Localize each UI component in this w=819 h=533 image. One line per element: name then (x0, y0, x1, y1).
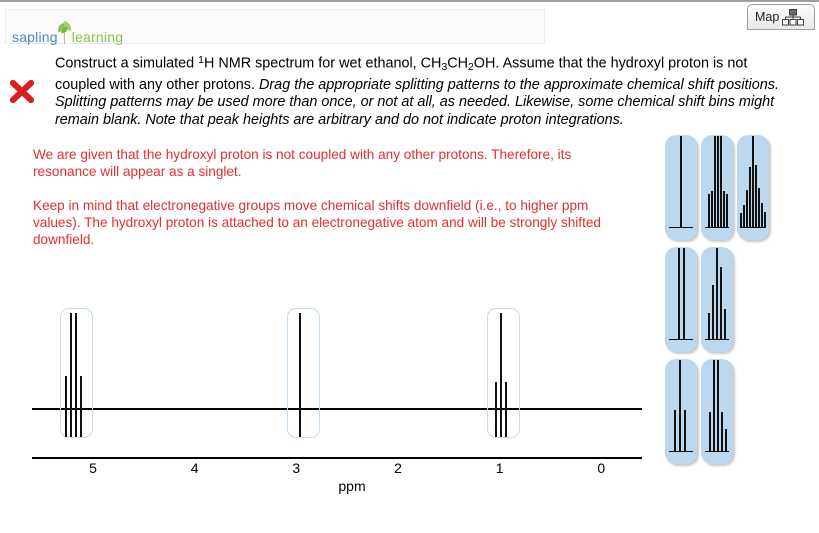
pattern-tile-triplet[interactable] (665, 359, 697, 464)
pattern-tile-multiplet-a[interactable] (701, 135, 733, 240)
sprout-icon (58, 22, 72, 44)
ppm-tick-4: 4 (191, 460, 199, 476)
peak-line (708, 313, 710, 340)
peak-line (75, 313, 77, 437)
pattern-baseline (669, 339, 693, 340)
pattern-preview-quartet (701, 359, 733, 464)
peak-line (80, 376, 82, 437)
peak-line (500, 313, 502, 437)
peak-line (299, 313, 301, 437)
peak-line (749, 167, 751, 228)
sapling-learning-logo: sapling learning (12, 22, 123, 44)
pattern-preview-multiplet (701, 247, 733, 352)
peak-line (724, 309, 726, 341)
nmr-spectrum: 543210 ppm (0, 272, 660, 502)
pattern-baseline (741, 227, 765, 228)
pattern-preview-singlet (665, 135, 697, 240)
peak-line (723, 191, 725, 228)
peak-line (70, 313, 72, 437)
peak-line (717, 136, 719, 228)
peak-line (714, 136, 716, 228)
peak-line (680, 136, 682, 228)
bin-3-ppm[interactable] (287, 308, 320, 438)
peak-line (678, 248, 680, 340)
hierarchy-tree-icon (782, 9, 804, 26)
pattern-tile-quartet[interactable] (701, 359, 733, 464)
peak-line (720, 267, 722, 341)
ppm-tick-1: 1 (496, 460, 504, 476)
peak-line (720, 136, 722, 228)
logo-word-learning: learning (72, 30, 123, 44)
pattern-tile-singlet[interactable] (665, 135, 697, 240)
peak-line (674, 410, 676, 452)
peak-line (761, 203, 763, 228)
bin-4-8-ppm[interactable] (60, 308, 93, 438)
ppm-tick-3: 3 (292, 460, 300, 476)
peak-line (709, 412, 711, 452)
peak-line (721, 412, 723, 452)
placed-pattern-quartet[interactable] (61, 309, 92, 437)
peak-line (683, 248, 685, 340)
pattern-baseline (705, 339, 729, 340)
pattern-tile-doublet[interactable] (665, 247, 697, 352)
logo-word-sapling: sapling (12, 30, 58, 44)
pattern-preview-multiplet (737, 135, 769, 240)
ppm-tick-0: 0 (597, 460, 605, 476)
peak-line (711, 191, 713, 228)
peak-line (684, 410, 686, 452)
question-prompt: Construct a simulated 1H NMR spectrum fo… (55, 52, 790, 129)
pattern-preview-triplet (665, 359, 697, 464)
feedback-paragraph-2: Keep in mind that electronegative groups… (33, 197, 618, 248)
peak-line (716, 248, 718, 340)
peak-line (758, 188, 760, 228)
pattern-preview-multiplet (701, 135, 733, 240)
feedback-panel: We are given that the hydroxyl proton is… (33, 146, 618, 248)
pattern-tile-multiplet-c[interactable] (701, 247, 733, 352)
peak-line (505, 382, 507, 437)
activity-frame: sapling learning Map Construct a simulat… (0, 0, 819, 533)
placed-pattern-singlet[interactable] (288, 309, 319, 437)
ppm-tick-2: 2 (394, 460, 402, 476)
peak-line (713, 360, 715, 452)
peak-line (726, 194, 728, 228)
red-x-incorrect-icon (6, 75, 38, 107)
ppm-tick-5: 5 (89, 460, 97, 476)
question-text-c: CH (447, 56, 468, 72)
bin-1-ppm[interactable] (487, 308, 520, 438)
question-text-b: H NMR spectrum for wet ethanol, CH (204, 56, 442, 72)
peak-line (65, 376, 67, 437)
peak-line (495, 382, 497, 437)
peak-line (717, 360, 719, 452)
placed-pattern-triplet[interactable] (488, 309, 519, 437)
pattern-preview-doublet (665, 247, 697, 352)
peak-line (752, 136, 754, 228)
pattern-baseline (669, 227, 693, 228)
feedback-paragraph-1: We are given that the hydroxyl proton is… (33, 146, 618, 180)
peak-line (725, 429, 727, 452)
pattern-baseline (669, 451, 693, 452)
question-text-a: Construct a simulated (55, 56, 198, 72)
map-button[interactable]: Map (747, 4, 815, 30)
pattern-baseline (705, 227, 729, 228)
splitting-pattern-palette (665, 135, 815, 475)
peak-line (708, 194, 710, 228)
ppm-axis-title: ppm (338, 478, 365, 494)
peak-line (679, 360, 681, 452)
peak-line (743, 205, 745, 228)
pattern-baseline (705, 451, 729, 452)
peak-line (755, 165, 757, 228)
peak-line (746, 190, 748, 228)
spectrum-baseline (32, 408, 642, 410)
peak-line (712, 285, 714, 340)
ppm-axis-line (32, 457, 642, 459)
map-button-label: Map (755, 10, 779, 24)
pattern-tile-multiplet-b[interactable] (737, 135, 769, 240)
